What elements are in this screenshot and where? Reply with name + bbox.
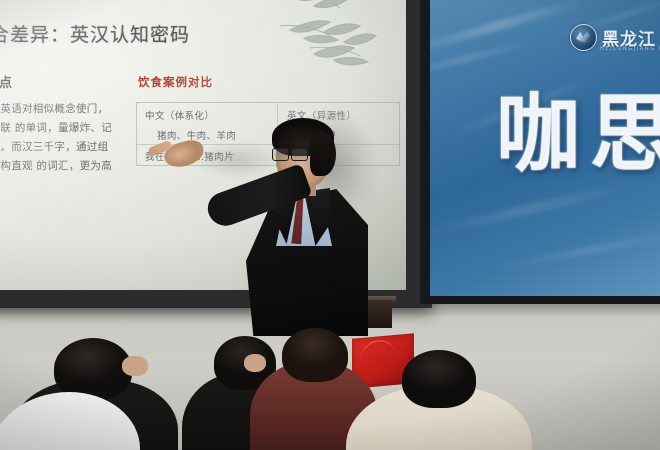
glasses-lens-right bbox=[291, 148, 308, 161]
student-hair bbox=[54, 338, 132, 400]
table-header-chinese: 中文（体系化） bbox=[145, 108, 214, 122]
slide-red-heading: 饮食案例对比 bbox=[138, 74, 213, 90]
banner-headline: 咖思 bbox=[496, 92, 660, 176]
photo-stage: 耦合差异：英汉认知密码 议焦点 认为，英语对相似概念使门，毫无关联 的单词，量爆… bbox=[0, 0, 660, 450]
presenter-hair-side bbox=[310, 132, 336, 176]
glasses-bridge bbox=[287, 152, 292, 153]
university-name-english: HEILONGJIANG UNIVERSITY bbox=[600, 46, 660, 52]
student-hair bbox=[402, 350, 476, 408]
slide-title: 耦合差异：英汉认知密码 bbox=[0, 20, 190, 47]
student-hand-1 bbox=[122, 356, 148, 376]
blue-banner: 黑龙江 HEILONGJIANG UNIVERSITY 咖思 bbox=[430, 0, 660, 296]
bamboo-ink-decoration-icon bbox=[270, 0, 400, 78]
student-hair bbox=[282, 328, 348, 382]
university-crest-icon bbox=[570, 24, 597, 51]
glasses-lens-left bbox=[272, 148, 289, 161]
student-hand-2 bbox=[244, 354, 266, 372]
slide-body-text: 认为，英语对相似概念使门，毫无关联 的单词，量爆炸、记忆困难。而汉三千字，通过组… bbox=[0, 100, 118, 195]
presenter-glasses-icon bbox=[272, 148, 308, 159]
banner-frame: 黑龙江 HEILONGJIANG UNIVERSITY 咖思 bbox=[420, 0, 660, 304]
slide-subtitle: 议焦点 bbox=[0, 72, 13, 91]
presenter bbox=[232, 118, 380, 328]
